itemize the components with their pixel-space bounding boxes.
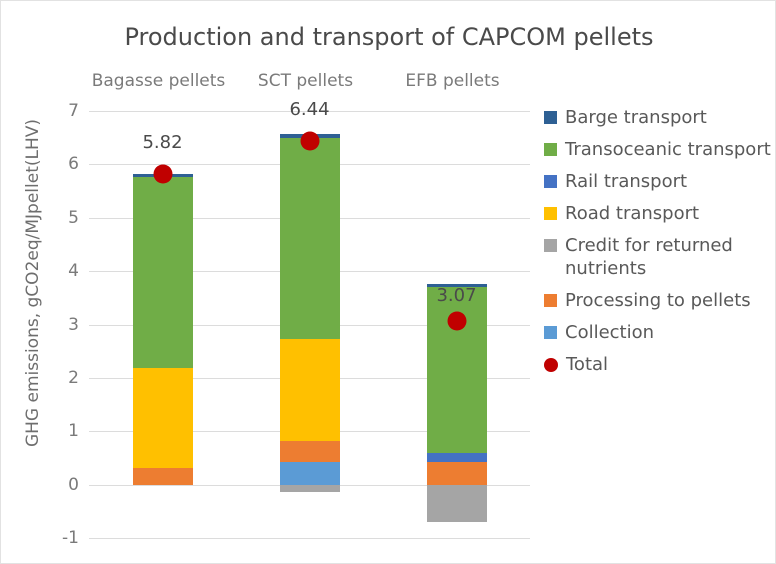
legend-swatch-icon (544, 207, 557, 220)
legend-label: Credit for returned nutrients (565, 234, 772, 280)
bar-segment[interactable] (280, 339, 340, 440)
y-tick-label: 3 (68, 315, 79, 335)
legend-label: Barge transport (565, 106, 707, 129)
bar-segment[interactable] (133, 177, 193, 368)
y-tick-label: 1 (68, 421, 79, 441)
legend-dot-icon (544, 358, 558, 372)
total-value-label: 5.82 (142, 132, 182, 153)
bar-segment[interactable] (280, 441, 340, 462)
bar-segment[interactable] (133, 468, 193, 485)
plot-area: 76543210-1 Bagasse pelletsSCT pelletsEFB… (89, 111, 530, 538)
y-axis-title: GHG emissions, gCO2eq/MJpellet(LHV) (23, 73, 43, 493)
category-label-2: SCT pellets (258, 71, 353, 91)
legend-label: Road transport (565, 202, 699, 225)
category-label-1: Bagasse pellets (92, 71, 226, 91)
total-marker[interactable] (447, 311, 466, 330)
legend-item-8[interactable]: Total (544, 353, 772, 376)
legend-label: Transoceanic transport (565, 138, 771, 161)
bar-stack[interactable] (280, 111, 340, 538)
legend-label: Rail transport (565, 170, 687, 193)
legend-swatch-icon (544, 239, 557, 252)
y-tick-label: 2 (68, 368, 79, 388)
y-tick-label: 4 (68, 261, 79, 281)
legend-item-4[interactable]: Road transport (544, 202, 772, 225)
legend-swatch-icon (544, 175, 557, 188)
legend-item-6[interactable]: Processing to pellets (544, 289, 772, 312)
legend-item-7[interactable]: Collection (544, 321, 772, 344)
chart-legend: Barge transportTransoceanic transportRai… (544, 106, 772, 385)
bar-segment-negative[interactable] (280, 485, 340, 492)
total-value-label: 6.44 (289, 99, 329, 120)
gridline (89, 538, 530, 539)
legend-swatch-icon (544, 111, 557, 124)
bar-segment-negative[interactable] (427, 485, 487, 522)
total-marker[interactable] (300, 131, 319, 150)
bar-segment[interactable] (427, 462, 487, 484)
legend-item-3[interactable]: Rail transport (544, 170, 772, 193)
y-tick-label: 5 (68, 208, 79, 228)
bar-segment[interactable] (427, 453, 487, 463)
legend-item-5[interactable]: Credit for returned nutrients (544, 234, 772, 280)
y-tick-label: -1 (62, 528, 79, 548)
bar-segment[interactable] (280, 138, 340, 340)
bar-segment[interactable] (133, 368, 193, 467)
legend-label: Collection (565, 321, 654, 344)
bar-segment[interactable] (280, 462, 340, 484)
chart-title: Production and transport of CAPCOM pelle… (1, 23, 776, 51)
legend-item-2[interactable]: Transoceanic transport (544, 138, 772, 161)
chart-frame: Production and transport of CAPCOM pelle… (0, 0, 776, 564)
y-tick-label: 6 (68, 154, 79, 174)
legend-item-1[interactable]: Barge transport (544, 106, 772, 129)
category-label-3: EFB pellets (405, 71, 499, 91)
legend-label: Total (566, 353, 608, 376)
legend-swatch-icon (544, 326, 557, 339)
y-tick-label: 7 (68, 101, 79, 121)
total-marker[interactable] (153, 164, 172, 183)
legend-swatch-icon (544, 143, 557, 156)
total-value-label: 3.07 (436, 285, 476, 306)
legend-swatch-icon (544, 294, 557, 307)
legend-label: Processing to pellets (565, 289, 751, 312)
y-tick-label: 0 (68, 475, 79, 495)
